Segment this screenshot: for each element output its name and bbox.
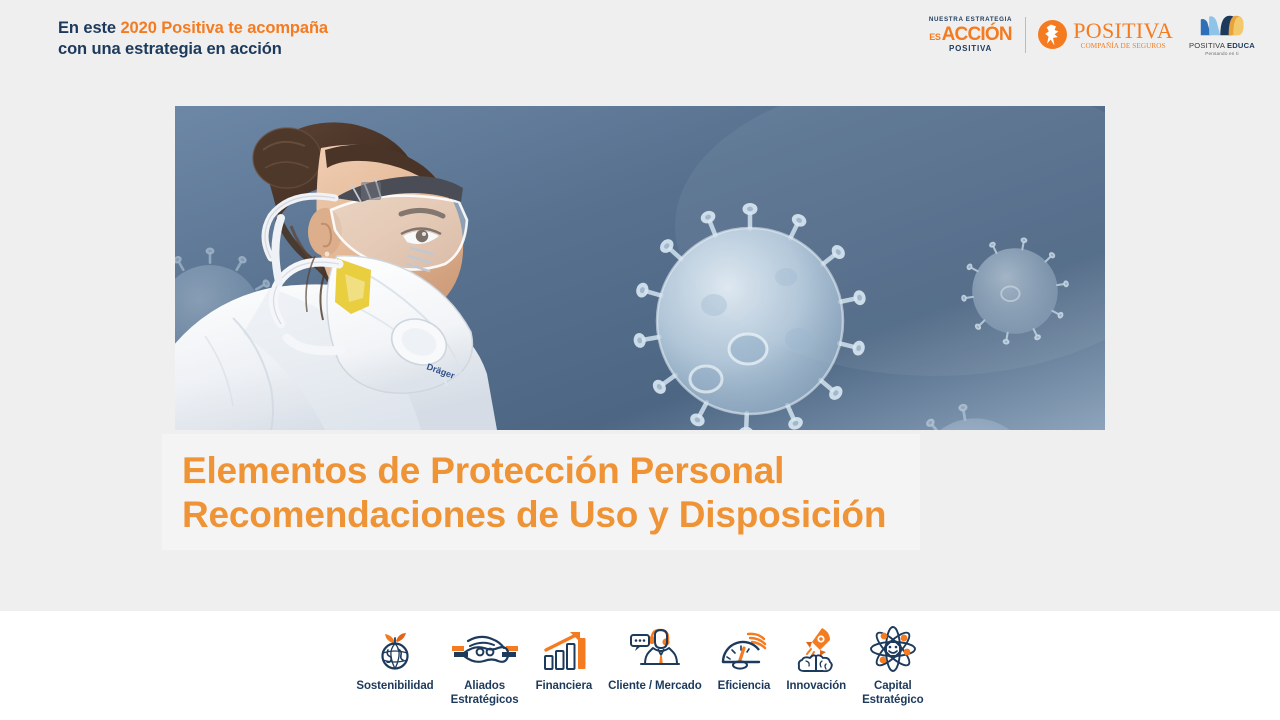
headset-agent-icon (627, 624, 683, 674)
logo-divider (1025, 17, 1026, 53)
slide-header-heading: En este 2020 Positiva te acompaña con un… (58, 18, 328, 60)
header-line-2: con una estrategia en acción (58, 39, 328, 60)
strategy-label-innovacion: Innovación (786, 680, 846, 694)
logo-positiva-subtitle: COMPAÑÍA DE SEGUROS (1073, 43, 1173, 50)
strategy-label-aliados-estrategicos: Aliados Estratégicos (451, 680, 519, 707)
logo-educa-name: POSITIVA EDUCA (1189, 42, 1255, 50)
logo-accion-main-row: ES ACCIÓN (929, 25, 1012, 44)
logo-educa-name-light: POSITIVA (1189, 41, 1227, 50)
logo-positiva-educa: POSITIVA EDUCA Pensando en ti (1189, 13, 1255, 56)
header-line-1-prefix: En este (58, 19, 120, 37)
strategy-item-eficiencia[interactable]: Eficiencia (710, 624, 779, 694)
hero-illustration: Dräger (175, 106, 1105, 430)
strategy-item-cliente-mercado[interactable]: Cliente / Mercado (600, 624, 710, 694)
logo-bar: NUESTRA ESTRATEGIA ES ACCIÓN POSITIVA PO… (929, 13, 1255, 57)
strategy-item-sostenibilidad[interactable]: Sostenibilidad (348, 624, 441, 694)
logo-positiva-name: POSITIVA (1073, 20, 1173, 42)
logo-accion-word: ACCIÓN (942, 25, 1012, 44)
strategy-label-eficiencia: Eficiencia (718, 680, 771, 694)
strategy-label-sostenibilidad: Sostenibilidad (356, 680, 433, 694)
strategy-label-cliente-mercado: Cliente / Mercado (608, 680, 702, 694)
positiva-educa-mark-icon (1198, 13, 1246, 39)
slide-title-line-2: Recomendaciones de Uso y Disposición (182, 493, 1082, 537)
strategy-item-financiera[interactable]: Financiera (528, 624, 601, 694)
strategy-item-capital-estrategico[interactable]: Capital Estratégico (854, 624, 932, 707)
globe-sprout-icon (371, 624, 419, 674)
strategy-label-financiera: Financiera (536, 680, 593, 694)
logo-positiva-seguros: POSITIVA COMPAÑÍA DE SEGUROS (1038, 20, 1189, 50)
logo-accion-bottom-text: POSITIVA (949, 45, 992, 53)
logo-accion-top-text: NUESTRA ESTRATEGIA (929, 17, 1012, 24)
header-line-1-highlight: 2020 Positiva te acompaña (120, 19, 328, 37)
handshake-icon (450, 624, 520, 674)
strategy-label-capital-estrategico: Capital Estratégico (862, 680, 924, 707)
logo-educa-name-bold: EDUCA (1227, 41, 1255, 50)
slide-title: Elementos de Protección Personal Recomen… (182, 449, 1082, 537)
logo-educa-tagline: Pensando en ti (1205, 52, 1238, 57)
speedometer-icon (718, 624, 770, 674)
atom-smiley-icon (867, 624, 919, 674)
strategy-item-aliados-estrategicos[interactable]: Aliados Estratégicos (442, 624, 528, 707)
hero-photo-ppe-worker: Dräger (175, 106, 1105, 430)
logo-positiva-text: POSITIVA COMPAÑÍA DE SEGUROS (1073, 20, 1173, 50)
strategy-pillars-list: Sostenibilidad (348, 624, 931, 707)
logo-es-accion-positiva: NUESTRA ESTRATEGIA ES ACCIÓN POSITIVA (929, 17, 1025, 52)
header-line-1: En este 2020 Positiva te acompaña (58, 18, 328, 39)
rocket-brain-icon (792, 624, 840, 674)
presentation-slide: En este 2020 Positiva te acompaña con un… (0, 0, 1280, 720)
positiva-flower-mark-icon (1038, 20, 1067, 49)
bar-chart-growth-icon (540, 624, 588, 674)
slide-title-line-1: Elementos de Protección Personal (182, 449, 1082, 493)
strategy-pillars-bar: Sostenibilidad (0, 611, 1280, 720)
strategy-item-innovacion[interactable]: Innovación (778, 624, 854, 694)
logo-accion-es-text: ES (929, 33, 940, 42)
